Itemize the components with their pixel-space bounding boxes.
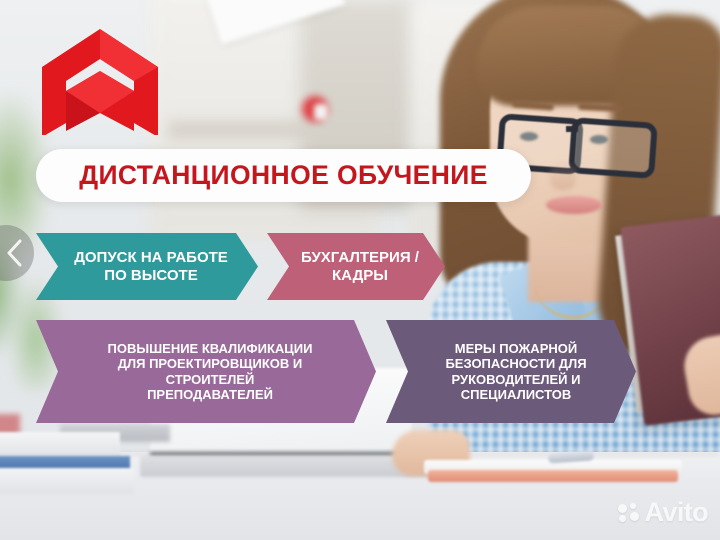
course-banner-label: МЕРЫ ПОЖАРНОЙ БЕЗОПАСНОСТИ ДЛЯ РУКОВОДИТ… <box>445 341 586 401</box>
course-banner-label: БУХГАЛТЕРИЯ / КАДРЫ <box>301 249 419 284</box>
banner-line: ДЛЯ ПРОЕКТИРОВЩИКОВ И <box>108 356 313 371</box>
course-banner-dopusk-vysota[interactable]: ДОПУСК НА РАБОТЕ ПО ВЫСОТЕ <box>36 233 258 300</box>
course-row-bottom: ПОВЫШЕНИЕ КВАЛИФИКАЦИИ ДЛЯ ПРОЕКТИРОВЩИК… <box>36 320 636 423</box>
banner-line: БЕЗОПАСНОСТИ ДЛЯ <box>445 356 586 371</box>
avito-watermark: Avito <box>618 499 709 526</box>
banner-line: ПРЕПОДАВАТЕЛЕЙ <box>108 387 313 402</box>
course-banner-pozharnaya-bezopasnost[interactable]: МЕРЫ ПОЖАРНОЙ БЕЗОПАСНОСТИ ДЛЯ РУКОВОДИТ… <box>386 320 636 423</box>
lips <box>546 196 602 214</box>
course-banner-label: ДОПУСК НА РАБОТЕ ПО ВЫСОТЕ <box>74 249 228 284</box>
banner-line: МЕРЫ ПОЖАРНОЙ <box>445 341 586 356</box>
page-title: ДИСТАНЦИОННОЕ ОБУЧЕНИЕ <box>36 149 531 202</box>
listing-image-viewer: ДИСТАНЦИОННОЕ ОБУЧЕНИЕ ДОПУСК НА РАБОТЕ … <box>0 0 720 540</box>
avito-wordmark: Avito <box>645 499 709 526</box>
chevron-left-icon <box>6 239 22 267</box>
course-banner-povyshenie-kvalifikacii[interactable]: ПОВЫШЕНИЕ КВАЛИФИКАЦИИ ДЛЯ ПРОЕКТИРОВЩИК… <box>36 320 376 423</box>
course-banner-label: ПОВЫШЕНИЕ КВАЛИФИКАЦИИ ДЛЯ ПРОЕКТИРОВЩИК… <box>108 341 313 401</box>
banner-line: ДОПУСК НА РАБОТЕ <box>74 249 228 266</box>
book-stack-item <box>0 432 120 458</box>
red-object-highlight <box>314 104 328 120</box>
banner-line: БУХГАЛТЕРИЯ / <box>301 249 419 266</box>
course-banner-buhgalteriya-kadry[interactable]: БУХГАЛТЕРИЯ / КАДРЫ <box>267 233 445 300</box>
cube-book-logo-icon <box>38 25 162 135</box>
course-row-top: ДОПУСК НА РАБОТЕ ПО ВЫСОТЕ БУХГАЛТЕРИЯ /… <box>36 233 445 300</box>
eyeglasses-lens <box>568 117 658 179</box>
page-title-text: ДИСТАНЦИОННОЕ ОБУЧЕНИЕ <box>79 160 488 191</box>
banner-line: СПЕЦИАЛИСТОВ <box>445 387 586 402</box>
banner-line: КАДРЫ <box>301 267 419 284</box>
eyeglasses-bridge <box>566 126 578 132</box>
banner-line: РУКОВОДИТЕЛЕЙ И <box>445 372 586 387</box>
notebook-cover <box>428 470 678 482</box>
banner-line: ПО ВЫСОТЕ <box>74 267 228 284</box>
banner-line: ПОВЫШЕНИЕ КВАЛИФИКАЦИИ <box>108 341 313 356</box>
nose <box>550 162 576 190</box>
banner-line: СТРОИТЕЛЕЙ <box>108 372 313 387</box>
book-stack-item <box>0 468 134 494</box>
avito-dots-icon <box>618 503 640 523</box>
